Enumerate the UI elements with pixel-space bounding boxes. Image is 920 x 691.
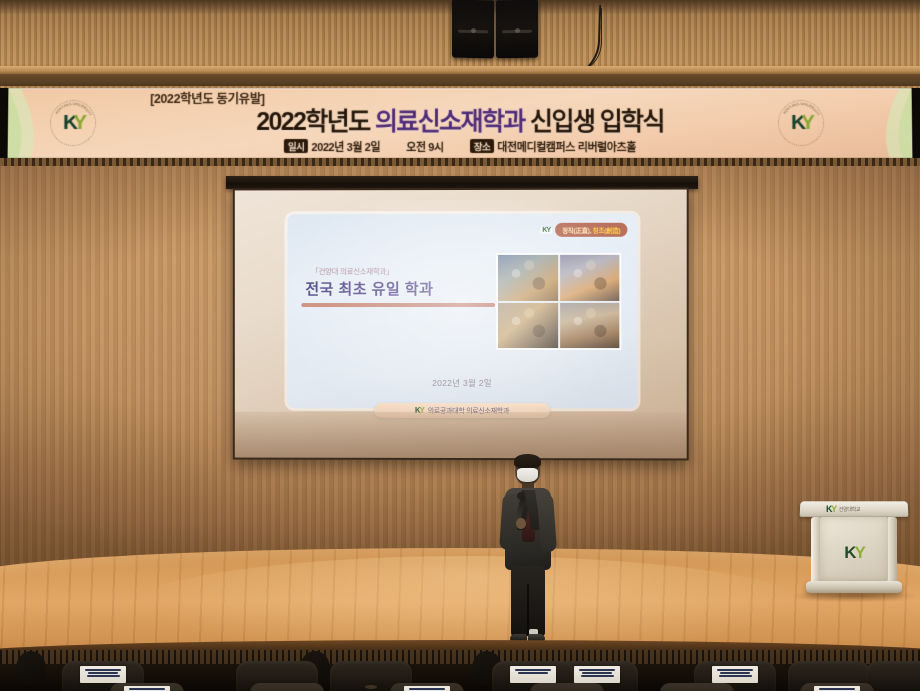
lectern-base bbox=[806, 581, 902, 593]
banner-title: 2022학년도 의료신소재학과 신입생 입학식 bbox=[128, 108, 792, 136]
slide-headline: 전국 최초 유일 학과 bbox=[305, 278, 433, 299]
lectern-ky-wordmark: KY bbox=[826, 504, 836, 514]
slide-motto-badge: KY 정직(正直), 창조(創造) bbox=[540, 223, 627, 237]
lectern: KY 건양대학교 KY bbox=[800, 495, 908, 595]
slide-ky-icon: KY bbox=[540, 226, 552, 233]
presentation-slide: KY 정직(正直), 창조(創造) 「건양대 의료신소재학과」 전국 최초 유일… bbox=[287, 214, 637, 409]
seat-name-card bbox=[574, 666, 620, 683]
event-banner: KONYANG UNIVERSITY KY KONYANG UNIVERSITY bbox=[0, 86, 920, 166]
lectern-panel-logo: KY bbox=[844, 543, 864, 563]
slide-underline-bar bbox=[301, 303, 495, 307]
place-label-chip: 장소 bbox=[470, 139, 495, 153]
seat-front-row bbox=[660, 683, 734, 691]
banner-time: 오전 9시 bbox=[406, 142, 444, 154]
lectern-top-logo: KY 건양대학교 bbox=[826, 504, 860, 514]
seat-front-row bbox=[250, 683, 324, 691]
lectern-top-text: 건양대학교 bbox=[839, 506, 861, 513]
banner-title-year: 2022학년도 bbox=[256, 108, 375, 136]
speaker-driver bbox=[471, 28, 476, 33]
banner-details-line: 일시2022년 3월 2일오전 9시장소대전메디컬캠퍼스 리버럴아츠홀 bbox=[128, 139, 793, 155]
projection-screen: KY 정직(正直), 창조(創造) 「건양대 의료신소재학과」 전국 최초 유일… bbox=[233, 188, 689, 461]
seat-name-card bbox=[510, 666, 556, 683]
motto-part-1: 정직(正直), bbox=[562, 228, 591, 235]
slide-motto-pill: 정직(正直), 창조(創造) bbox=[555, 223, 627, 237]
slide-photo bbox=[498, 302, 558, 348]
motto-part-2: 창조(創造) bbox=[591, 228, 620, 235]
logo-letter-y: Y bbox=[73, 111, 85, 135]
seat-name-card bbox=[814, 686, 860, 691]
presenter bbox=[493, 456, 563, 646]
seat-front-row bbox=[110, 683, 184, 691]
lectern-logo-y: Y bbox=[831, 504, 836, 514]
panel-logo-k: K bbox=[844, 543, 854, 562]
banner-text-block: [2022학년도 동기유발] 2022학년도 의료신소재학과 신입생 입학식 일… bbox=[128, 92, 793, 154]
face-mask-icon bbox=[517, 468, 538, 482]
screen-lower-shading bbox=[235, 412, 687, 459]
seat-front-row bbox=[390, 683, 464, 691]
seat bbox=[866, 661, 920, 691]
banner-title-department: 의료신소재학과 bbox=[375, 108, 525, 136]
banner-title-event: 신입생 입학식 bbox=[525, 108, 664, 136]
slide-photo bbox=[498, 255, 558, 301]
panel-logo-y: Y bbox=[854, 543, 863, 562]
seat-emblem bbox=[365, 685, 377, 689]
slide-photo-grid bbox=[496, 253, 621, 350]
slide-photo bbox=[560, 302, 620, 348]
ky-wordmark: KY bbox=[52, 111, 96, 135]
banner-date: 2022년 3월 2일 bbox=[311, 142, 380, 154]
audience-seating bbox=[0, 650, 920, 691]
seat-front-row bbox=[530, 683, 604, 691]
audience-head bbox=[16, 651, 46, 685]
slide-subtitle: 「건양대 의료신소재학과」 bbox=[311, 266, 393, 277]
slide-photo bbox=[560, 255, 620, 301]
seat-name-card bbox=[80, 666, 126, 683]
presenter-hand bbox=[516, 518, 526, 529]
trouser-seam bbox=[527, 584, 529, 636]
konyang-logo-left: KONYANG UNIVERSITY KY bbox=[46, 98, 101, 148]
presenter-arm-right bbox=[537, 494, 557, 553]
banner-bracket-line: [2022학년도 동기유발] bbox=[128, 93, 792, 107]
auditorium-photo: KONYANG UNIVERSITY KY KONYANG UNIVERSITY bbox=[0, 0, 920, 691]
seat-name-card bbox=[124, 686, 170, 691]
seat-name-card bbox=[712, 666, 758, 683]
slide-date: 2022년 3월 2일 bbox=[287, 377, 637, 389]
date-label-chip: 일시 bbox=[284, 139, 309, 153]
ceiling-beam-shadow bbox=[0, 74, 920, 86]
logo-letter-y: Y bbox=[801, 111, 813, 135]
seat-name-card bbox=[404, 686, 450, 691]
banner-place: 대전메디컬캠퍼스 리버럴아츠홀 bbox=[497, 142, 636, 154]
seat-front-row bbox=[800, 683, 874, 691]
line-array-speaker-icon bbox=[452, 0, 494, 58]
ceiling-speaker-rig bbox=[452, 0, 542, 60]
lectern-front-panel: KY bbox=[820, 517, 888, 581]
line-array-speaker-icon bbox=[496, 0, 538, 58]
